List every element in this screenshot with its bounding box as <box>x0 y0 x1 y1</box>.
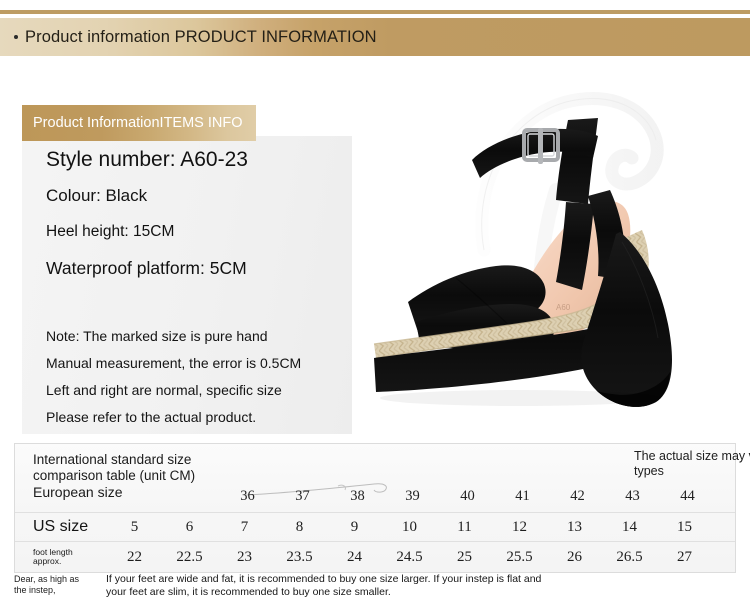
product-info-badge-label: Product InformationITEMS INFO <box>33 115 243 131</box>
foot-length-cell: 24 <box>327 549 382 566</box>
note-line-1: Note: The marked size is pure hand <box>46 328 346 344</box>
note-line-4: Please refer to the actual product. <box>46 409 346 425</box>
foot-length-cell: 22.5 <box>162 549 217 566</box>
page-header-band: Product information PRODUCT INFORMATION <box>0 18 750 56</box>
black-wedge-espadrille-sandal-illustration: A60 <box>360 72 750 434</box>
foot-length-values: 22 22.5 23 23.5 24 24.5 25 25.5 26 26.5 … <box>107 549 735 566</box>
note-line-2: Manual measurement, the error is 0.5CM <box>46 355 346 371</box>
us-size-cell: 11 <box>437 519 492 536</box>
product-info-badge: Product InformationITEMS INFO <box>22 105 256 141</box>
euro-size-cell: 43 <box>605 488 660 505</box>
table-header-row: International standard size comparison t… <box>15 444 735 513</box>
foot-length-cell: 26 <box>547 549 602 566</box>
footer-right-text: If your feet are wide and fat, it is rec… <box>106 573 736 599</box>
us-size-values: 5 6 7 8 9 10 11 12 13 14 15 <box>107 519 735 536</box>
spec-style-number: Style number: A60-23 <box>46 148 346 172</box>
us-size-cell: 7 <box>217 519 272 536</box>
footer-right-line-2: your feet are slim, it is recommended to… <box>106 586 736 599</box>
row-label-us-size: US size <box>15 518 107 536</box>
european-size-values: 36 37 38 39 40 41 42 43 44 <box>220 488 735 505</box>
euro-size-cell: 42 <box>550 488 605 505</box>
us-size-cell: 10 <box>382 519 437 536</box>
spec-heel-height: Heel height: 15CM <box>46 223 346 241</box>
product-spec-list: Style number: A60-23 Colour: Black Heel … <box>46 148 346 279</box>
us-size-cell: 15 <box>657 519 712 536</box>
spec-waterproof-platform: Waterproof platform: 5CM <box>46 258 346 279</box>
euro-size-cell: 40 <box>440 488 495 505</box>
table-row: US size 5 6 7 8 9 10 11 12 13 14 15 <box>15 513 735 542</box>
euro-size-cell: 41 <box>495 488 550 505</box>
measurement-note-block: Note: The marked size is pure hand Manua… <box>46 328 346 425</box>
euro-size-cell: 39 <box>385 488 440 505</box>
foot-length-cell: 25 <box>437 549 492 566</box>
footer-left-line-1: Dear, as high as <box>14 574 106 585</box>
foot-length-cell: 25.5 <box>492 549 547 566</box>
svg-text:A60: A60 <box>556 303 571 312</box>
table-header-left-cell: International standard size comparison t… <box>15 444 220 512</box>
row-label-foot-length-line2: approx. <box>33 557 107 567</box>
table-header-line-1: International standard size <box>33 452 220 468</box>
us-size-cell: 8 <box>272 519 327 536</box>
table-header-line-2: comparison table (unit CM) <box>33 468 220 484</box>
spec-colour: Colour: Black <box>46 186 346 206</box>
footer-left-text: Dear, as high as the instep, <box>14 573 106 596</box>
row-label-foot-length: foot length approx. <box>15 548 107 567</box>
us-size-cell: 9 <box>327 519 382 536</box>
size-comparison-table: International standard size comparison t… <box>14 443 736 573</box>
us-size-cell: 6 <box>162 519 217 536</box>
foot-length-cell: 26.5 <box>602 549 657 566</box>
sizing-advice-footer: Dear, as high as the instep, If your fee… <box>14 573 736 599</box>
table-row: foot length approx. 22 22.5 23 23.5 24 2… <box>15 542 735 572</box>
us-size-cell: 13 <box>547 519 602 536</box>
top-accent-rule <box>0 10 750 14</box>
foot-length-cell: 22 <box>107 549 162 566</box>
product-photo: A60 <box>360 72 750 434</box>
euro-size-cell: 38 <box>330 488 385 505</box>
footer-left-line-2: the instep, <box>14 585 106 596</box>
table-header-note: The actual size may vary slightly due to… <box>634 449 750 478</box>
euro-size-cell: 44 <box>660 488 715 505</box>
us-size-cell: 5 <box>107 519 162 536</box>
footer-right-line-1: If your feet are wide and fat, it is rec… <box>106 573 736 586</box>
foot-length-cell: 23.5 <box>272 549 327 566</box>
note-line-3: Left and right are normal, specific size <box>46 382 346 398</box>
foot-length-cell: 24.5 <box>382 549 437 566</box>
us-size-cell: 14 <box>602 519 657 536</box>
page-header-content: Product information PRODUCT INFORMATION <box>14 18 377 56</box>
table-header-line-3: European size <box>33 485 220 501</box>
page-title: Product information PRODUCT INFORMATION <box>25 28 377 47</box>
foot-length-cell: 27 <box>657 549 712 566</box>
dot-bullet-icon <box>14 35 18 39</box>
us-size-cell: 12 <box>492 519 547 536</box>
foot-length-cell: 23 <box>217 549 272 566</box>
euro-size-cell: 36 <box>220 488 275 505</box>
euro-size-cell: 37 <box>275 488 330 505</box>
